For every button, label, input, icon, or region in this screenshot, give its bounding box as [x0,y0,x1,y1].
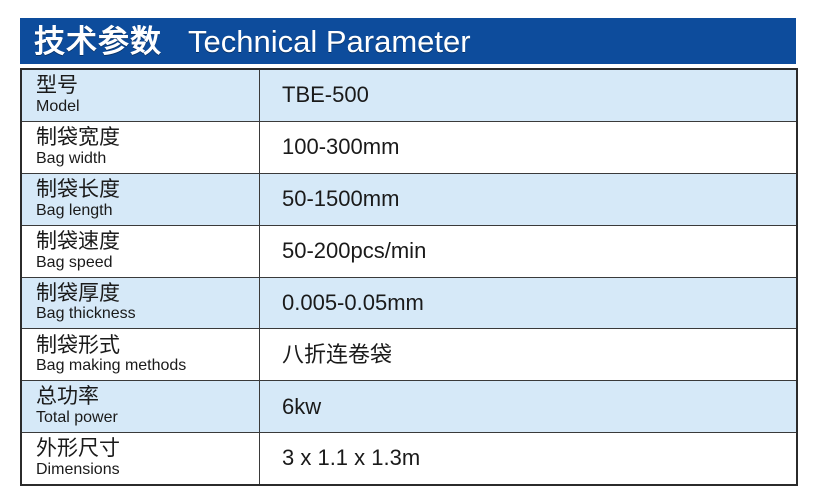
parameter-value-cell: 100-300mm [260,122,796,173]
parameter-label-english: Bag width [36,151,259,168]
parameter-value-cell: 八折连卷袋 [260,329,796,380]
parameter-value-cell: TBE-500 [260,70,796,121]
parameter-label-chinese: 制袋宽度 [36,127,259,150]
header-title-chinese: 技术参数 [34,26,162,57]
parameter-label-english: Dimensions [36,462,259,479]
parameter-label-english: Bag speed [36,255,259,272]
parameter-value: 50-1500mm [282,187,399,211]
parameter-value: TBE-500 [282,83,369,107]
header-title-english: Technical Parameter [188,26,471,57]
table-row: 总功率 Total power 6kw [22,381,796,433]
parameter-label-chinese: 制袋形式 [36,335,259,358]
table-row: 制袋速度 Bag speed 50-200pcs/min [22,226,796,278]
parameter-label-chinese: 制袋厚度 [36,283,259,306]
table-header-banner: 技术参数 Technical Parameter [20,18,796,64]
parameter-label-chinese: 制袋长度 [36,179,259,202]
table-row: 制袋宽度 Bag width 100-300mm [22,122,796,174]
table-row: 制袋长度 Bag length 50-1500mm [22,174,796,226]
parameter-label-english: Bag making methods [36,358,259,375]
parameter-label-chinese: 总功率 [36,386,259,409]
parameter-value: 100-300mm [282,135,399,159]
parameter-label-chinese: 型号 [36,75,259,98]
technical-parameter-sheet: 技术参数 Technical Parameter 型号 Model TBE-50… [0,0,820,500]
parameter-label-cell: 制袋形式 Bag making methods [22,329,260,380]
parameter-label-english: Total power [36,410,259,427]
table-row: 外形尺寸 Dimensions 3 x 1.1 x 1.3m [22,433,796,484]
parameter-label-cell: 制袋速度 Bag speed [22,226,260,277]
parameter-value-cell: 50-200pcs/min [260,226,796,277]
parameter-label-cell: 外形尺寸 Dimensions [22,433,260,484]
specification-table: 型号 Model TBE-500 制袋宽度 Bag width 100-300m… [20,68,798,486]
parameter-value: 6kw [282,395,321,419]
parameter-value: 50-200pcs/min [282,239,426,263]
table-row: 制袋形式 Bag making methods 八折连卷袋 [22,329,796,381]
parameter-label-cell: 制袋宽度 Bag width [22,122,260,173]
parameter-label-chinese: 制袋速度 [36,231,259,254]
parameter-value-cell: 6kw [260,381,796,432]
parameter-value-cell: 50-1500mm [260,174,796,225]
parameter-value: 0.005-0.05mm [282,291,424,315]
table-row: 型号 Model TBE-500 [22,70,796,122]
parameter-label-cell: 总功率 Total power [22,381,260,432]
parameter-label-english: Bag thickness [36,306,259,323]
parameter-label-english: Model [36,99,259,116]
parameter-label-cell: 制袋长度 Bag length [22,174,260,225]
parameter-value-cell: 3 x 1.1 x 1.3m [260,433,796,484]
parameter-label-chinese: 外形尺寸 [36,438,259,461]
parameter-label-cell: 型号 Model [22,70,260,121]
parameter-value-cell: 0.005-0.05mm [260,278,796,329]
parameter-label-english: Bag length [36,203,259,220]
parameter-value: 3 x 1.1 x 1.3m [282,446,420,470]
table-row: 制袋厚度 Bag thickness 0.005-0.05mm [22,278,796,330]
parameter-label-cell: 制袋厚度 Bag thickness [22,278,260,329]
parameter-value: 八折连卷袋 [282,343,392,367]
